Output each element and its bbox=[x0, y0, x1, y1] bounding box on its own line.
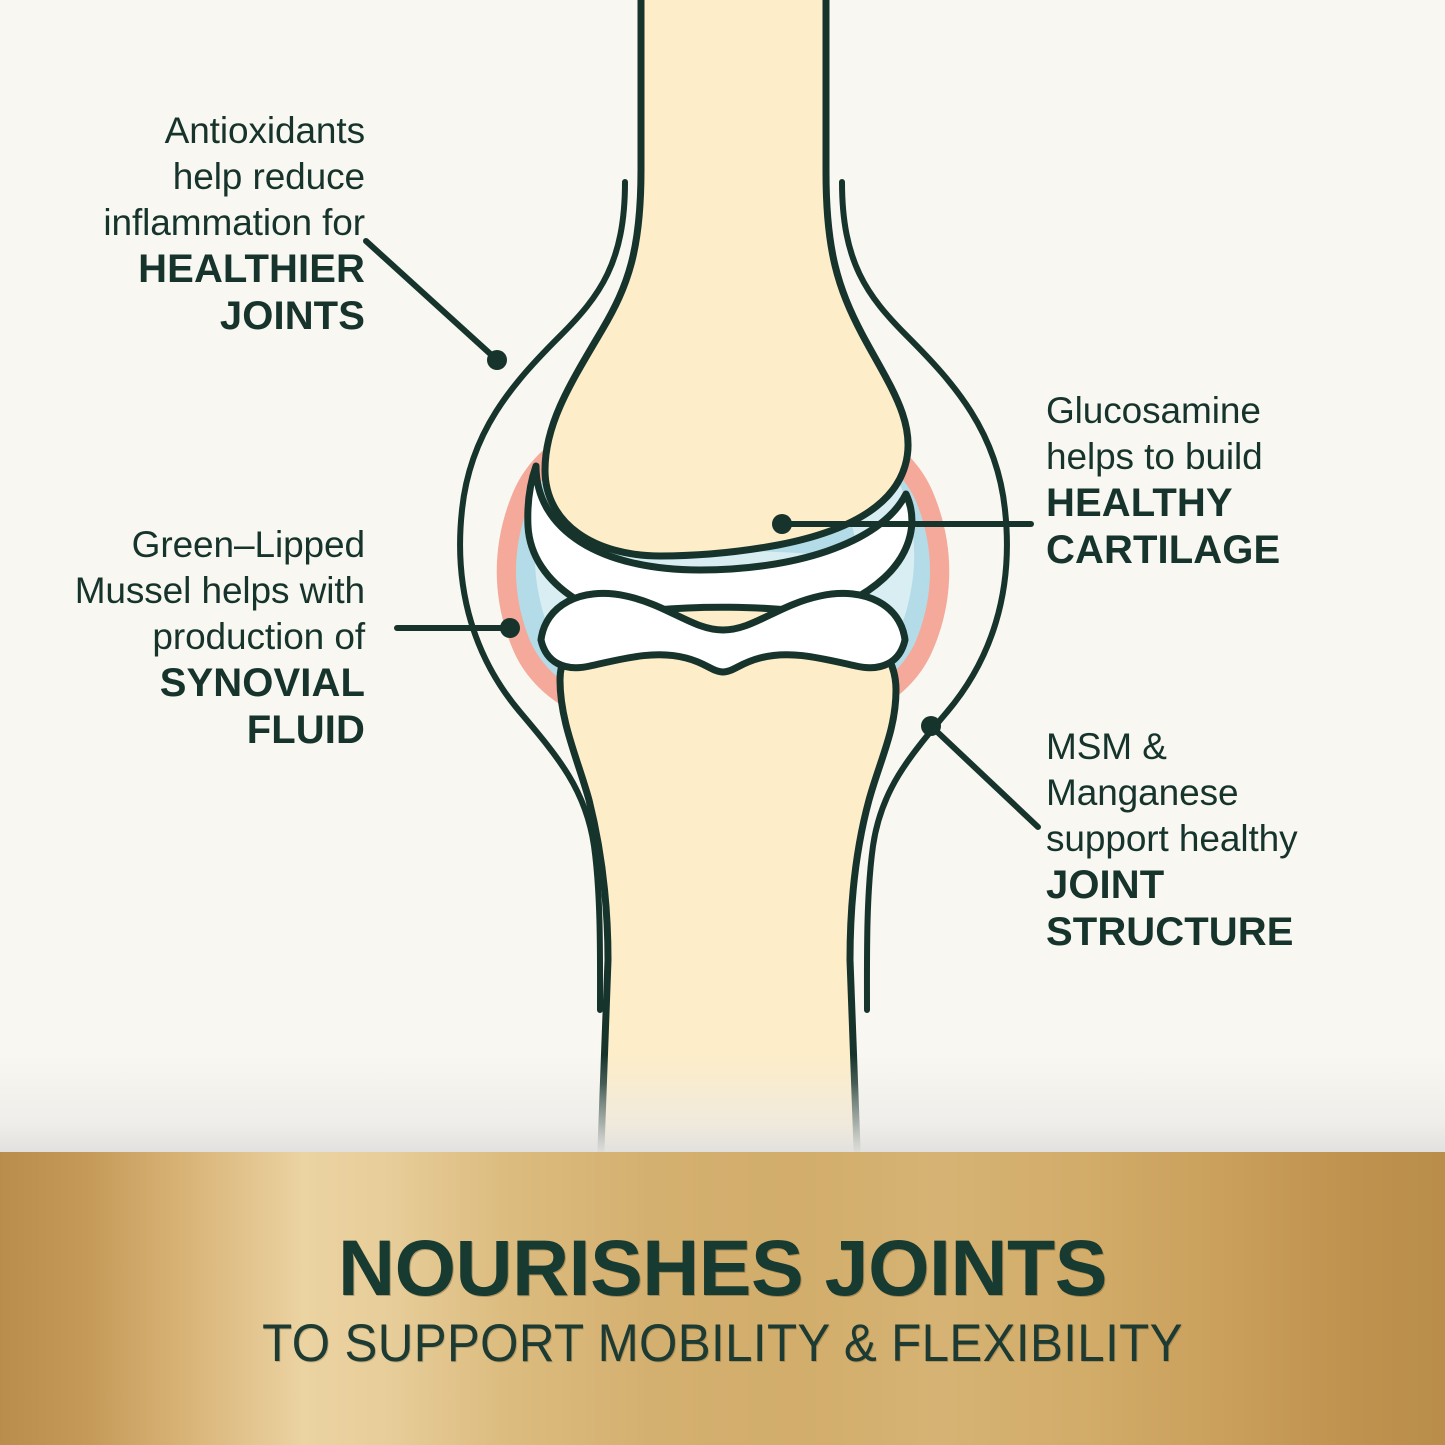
callout-msm-line-1: MSM & bbox=[1046, 724, 1426, 770]
leader-line-antioxidants bbox=[366, 241, 497, 360]
callout-antioxidants-emph-1: HEALTHIER bbox=[20, 246, 365, 293]
callout-msm-emph-2: STRUCTURE bbox=[1046, 909, 1426, 956]
callout-glucosamine-emph-2: CARTILAGE bbox=[1046, 527, 1416, 574]
callout-mussel-emph-2: FLUID bbox=[10, 707, 365, 754]
banner-headline: NOURISHES JOINTS bbox=[0, 1222, 1445, 1314]
leader-dot-glucosamine bbox=[772, 514, 792, 534]
callout-mussel-line-2: Mussel helps with bbox=[10, 568, 365, 614]
leader-dot-msm bbox=[921, 716, 941, 736]
callout-msm-emph-1: JOINT bbox=[1046, 862, 1426, 909]
callout-mussel-line-1: Green–Lipped bbox=[10, 522, 365, 568]
upper-bone-shape bbox=[545, 0, 908, 556]
leader-dot-antioxidants bbox=[487, 350, 507, 370]
callout-mussel-line-3: production of bbox=[10, 614, 365, 660]
callout-msm-manganese: MSM & Manganese support healthy JOINT ST… bbox=[1046, 724, 1426, 956]
callout-glucosamine-emph-1: HEALTHY bbox=[1046, 480, 1416, 527]
leader-dot-mussel bbox=[500, 618, 520, 638]
callout-msm-line-3: support healthy bbox=[1046, 816, 1426, 862]
callout-glucosamine-line-2: helps to build bbox=[1046, 434, 1416, 480]
callout-mussel-emph-1: SYNOVIAL bbox=[10, 660, 365, 707]
callout-antioxidants-line-3: inflammation for bbox=[20, 200, 365, 246]
callout-glucosamine: Glucosamine helps to build HEALTHY CARTI… bbox=[1046, 388, 1416, 574]
callout-antioxidants-line-1: Antioxidants bbox=[20, 108, 365, 154]
leader-line-msm bbox=[931, 726, 1038, 827]
callout-green-lipped-mussel: Green–Lipped Mussel helps with productio… bbox=[10, 522, 365, 754]
banner-subheadline: TO SUPPORT MOBILITY & FLEXIBILITY bbox=[51, 1313, 1395, 1374]
callout-msm-line-2: Manganese bbox=[1046, 770, 1426, 816]
lower-bone-shape bbox=[560, 607, 896, 1175]
callout-antioxidants-line-2: help reduce bbox=[20, 154, 365, 200]
callout-antioxidants-emph-2: JOINTS bbox=[20, 293, 365, 340]
callout-antioxidants: Antioxidants help reduce inflammation fo… bbox=[20, 108, 365, 340]
callout-glucosamine-line-1: Glucosamine bbox=[1046, 388, 1416, 434]
infographic-canvas: Antioxidants help reduce inflammation fo… bbox=[0, 0, 1445, 1445]
